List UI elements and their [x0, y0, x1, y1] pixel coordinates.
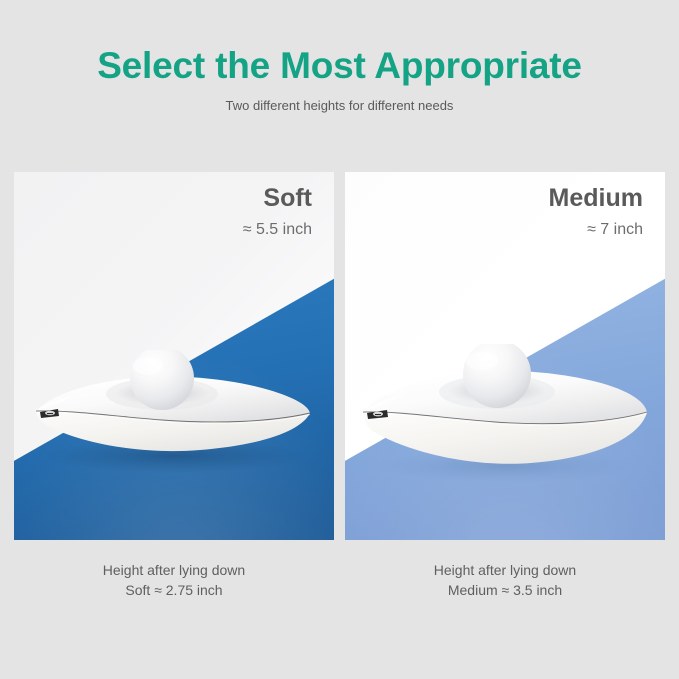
- firmness-label-medium: Medium: [549, 182, 643, 214]
- pillow-illustration-soft: [14, 350, 334, 490]
- firmness-label-soft: Soft: [263, 182, 312, 214]
- caption-soft: Height after lying down Soft ≈ 2.75 inch: [14, 560, 334, 600]
- pillow-illustration-medium: [345, 344, 665, 496]
- product-card-medium[interactable]: Medium ≈ 7 inch: [345, 172, 665, 540]
- page-subtitle: Two different heights for different need…: [0, 97, 679, 115]
- header: Select the Most Appropriate Two differen…: [0, 0, 679, 150]
- caption-medium-line1: Height after lying down: [345, 560, 665, 580]
- page-title: Select the Most Appropriate: [0, 44, 679, 88]
- caption-soft-line1: Height after lying down: [14, 560, 334, 580]
- product-card-soft[interactable]: Soft ≈ 5.5 inch: [14, 172, 334, 540]
- caption-medium-line2: Medium ≈ 3.5 inch: [345, 580, 665, 600]
- caption-medium: Height after lying down Medium ≈ 3.5 inc…: [345, 560, 665, 600]
- loft-height-soft: ≈ 5.5 inch: [243, 219, 312, 241]
- caption-soft-line2: Soft ≈ 2.75 inch: [14, 580, 334, 600]
- loft-height-medium: ≈ 7 inch: [587, 219, 643, 241]
